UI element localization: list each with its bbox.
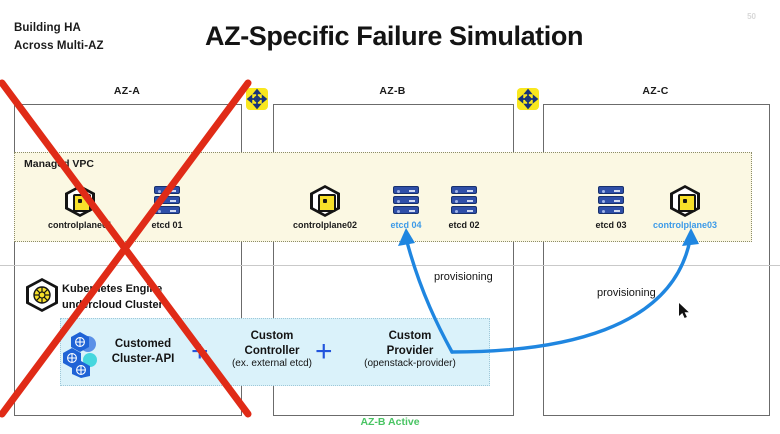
hex-chip-icon — [43, 183, 117, 219]
plus-icon-1: + — [191, 337, 209, 367]
server-stack-icon — [574, 183, 648, 219]
node-label: etcd 03 — [574, 220, 648, 230]
node-controlplane03[interactable]: controlplane03 — [648, 183, 722, 230]
component-title-line1: Custom — [251, 330, 294, 342]
node-label: controlplane02 — [288, 220, 362, 230]
az-panel-c — [543, 104, 770, 416]
node-label: etcd 01 — [130, 220, 204, 230]
node-label: controlplane01 — [43, 220, 117, 230]
component-subtitle: (openstack-provider) — [337, 358, 483, 371]
component-title-line2: Cluster-API — [112, 353, 175, 365]
undercloud-title: Kubernetes Engine undercloud Cluster — [62, 282, 163, 314]
undercloud-title-line2: undercloud Cluster — [62, 298, 163, 314]
node-etcd03[interactable]: etcd 03 — [574, 183, 648, 230]
kubernetes-engine-icon — [26, 278, 58, 312]
slide-subtitle: Building HA Across Multi-AZ — [14, 20, 104, 56]
component-title-line1: Customed — [115, 338, 171, 350]
vpc-divider — [0, 265, 780, 266]
az-label-b: AZ-B — [273, 85, 512, 97]
component-title-line2: Controller — [245, 345, 300, 357]
subtitle-line-1: Building HA — [14, 20, 104, 38]
provisioning-label-right: provisioning — [597, 287, 656, 299]
component-title-line1: Custom — [389, 330, 432, 342]
az-label-a: AZ-A — [14, 85, 240, 97]
az-label-c: AZ-C — [543, 85, 768, 97]
subtitle-line-2: Across Multi-AZ — [14, 38, 104, 56]
server-stack-icon — [427, 183, 501, 219]
provisioning-label-left: provisioning — [434, 271, 493, 283]
component-custom-provider: Custom Provider (openstack-provider) — [337, 329, 483, 371]
hex-chip-icon — [648, 183, 722, 219]
undercloud-title-line1: Kubernetes Engine — [62, 282, 163, 298]
node-controlplane01[interactable]: controlplane01 — [43, 183, 117, 230]
component-cluster-api: Customed Cluster-API — [88, 337, 198, 366]
server-stack-icon — [130, 183, 204, 219]
slide-title: AZ-Specific Failure Simulation — [205, 21, 583, 52]
status-badge-az-active: AZ-B Active — [0, 416, 780, 428]
move-arrows-icon-bc[interactable] — [517, 88, 539, 110]
hex-chip-icon — [288, 183, 362, 219]
node-etcd02[interactable]: etcd 02 — [427, 183, 501, 230]
component-custom-controller: Custom Controller (ex. external etcd) — [216, 329, 328, 371]
node-label: etcd 02 — [427, 220, 501, 230]
plus-icon-2: + — [315, 337, 333, 367]
node-etcd01[interactable]: etcd 01 — [130, 183, 204, 230]
managed-vpc-label: Managed VPC — [24, 158, 94, 170]
node-controlplane02[interactable]: controlplane02 — [288, 183, 362, 230]
page-number: 50 — [747, 12, 756, 21]
component-title-line2: Provider — [387, 345, 434, 357]
move-arrows-icon-ab[interactable] — [246, 88, 268, 110]
node-label: controlplane03 — [648, 220, 722, 230]
slide-canvas: Building HA Across Multi-AZ AZ-Specific … — [0, 0, 780, 434]
component-subtitle: (ex. external etcd) — [216, 358, 328, 371]
